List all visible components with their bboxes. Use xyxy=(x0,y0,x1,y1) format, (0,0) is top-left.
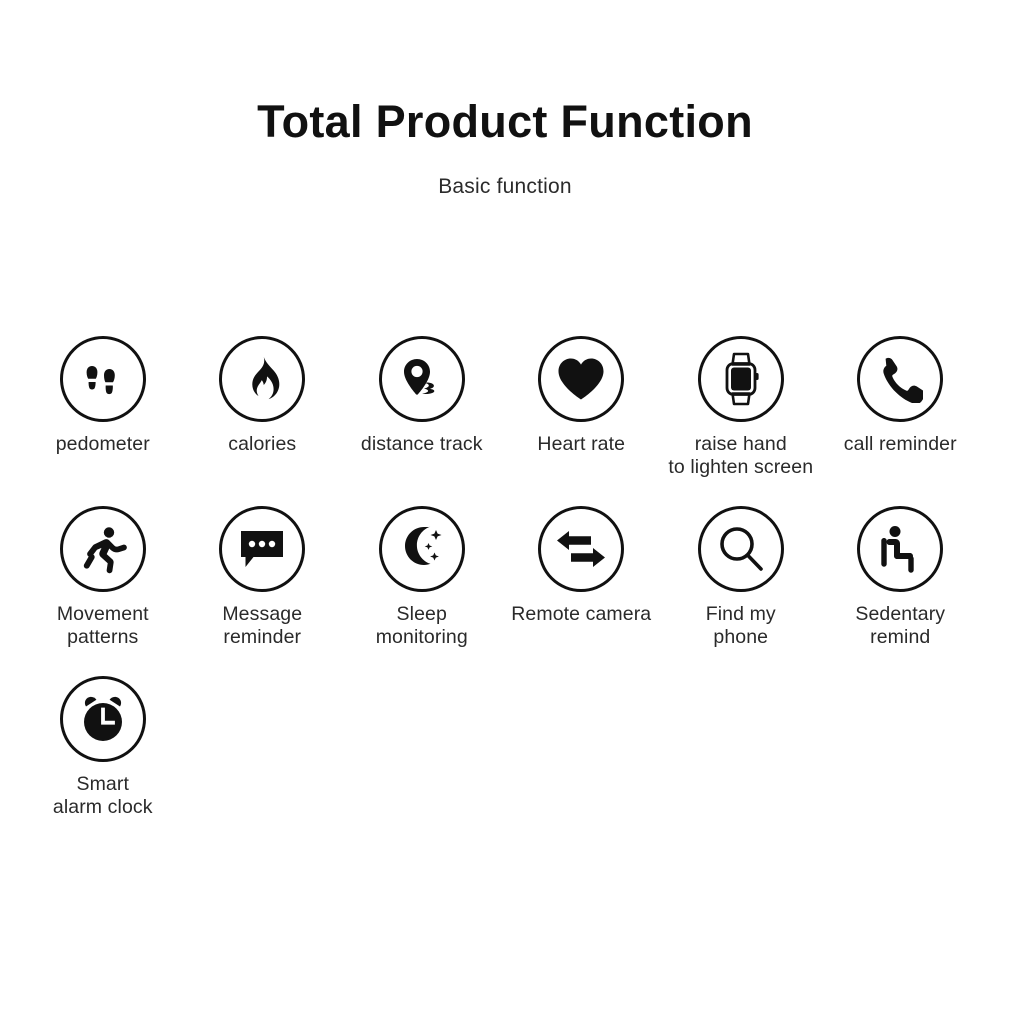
seated-person-icon xyxy=(876,524,924,574)
feature-icon-badge xyxy=(379,506,465,592)
feature-label: Sedentary remind xyxy=(855,603,945,649)
feature-label: pedometer xyxy=(56,433,150,456)
flame-icon xyxy=(239,355,285,403)
feature-label: Find my phone xyxy=(706,603,776,649)
feature-label: Heart rate xyxy=(537,433,625,456)
feature-icon-badge xyxy=(219,506,305,592)
smartwatch-icon xyxy=(718,352,764,406)
poster-root: Total Product Function Basic function pe… xyxy=(0,0,1010,1010)
running-person-icon xyxy=(78,524,128,574)
phone-handset-icon xyxy=(877,355,923,403)
feature-icon-badge xyxy=(857,506,943,592)
footprints-icon xyxy=(78,354,128,404)
feature-item-calories[interactable]: calories xyxy=(183,336,343,479)
feature-icon-badge xyxy=(60,336,146,422)
feature-icon-badge xyxy=(379,336,465,422)
alarm-clock-icon xyxy=(77,694,129,744)
feature-label: calories xyxy=(228,433,296,456)
feature-label: Message reminder xyxy=(222,603,302,649)
feature-item-message-reminder[interactable]: Message reminder xyxy=(183,506,343,649)
feature-item-raise-hand[interactable]: raise hand to lighten screen xyxy=(661,336,821,479)
feature-label: distance track xyxy=(361,433,483,456)
feature-item-find-my-phone[interactable]: Find my phone xyxy=(661,506,821,649)
feature-item-heart-rate[interactable]: Heart rate xyxy=(502,336,662,479)
feature-item-call-reminder[interactable]: call reminder xyxy=(821,336,981,479)
feature-item-pedometer[interactable]: pedometer xyxy=(23,336,183,479)
chat-bubble-icon xyxy=(237,527,287,571)
feature-item-sleep-monitoring[interactable]: Sleep monitoring xyxy=(342,506,502,649)
double-arrow-icon xyxy=(555,528,607,570)
feature-label: call reminder xyxy=(844,433,957,456)
feature-icon-badge xyxy=(698,506,784,592)
magnifier-icon xyxy=(717,525,765,573)
feature-item-remote-camera[interactable]: Remote camera xyxy=(502,506,662,649)
heart-icon xyxy=(556,356,606,402)
feature-icon-badge xyxy=(538,336,624,422)
feature-label: Movement patterns xyxy=(57,603,149,649)
header: Total Product Function Basic function xyxy=(0,98,1010,199)
feature-grid: pedometer calories xyxy=(23,336,987,846)
feature-item-movement-patterns[interactable]: Movement patterns xyxy=(23,506,183,649)
feature-item-sedentary-remind[interactable]: Sedentary remind xyxy=(821,506,981,649)
feature-label: raise hand to lighten screen xyxy=(668,433,813,479)
feature-label: Sleep monitoring xyxy=(376,603,468,649)
feature-item-distance-track[interactable]: distance track xyxy=(342,336,502,479)
feature-label: Remote camera xyxy=(511,603,651,626)
feature-icon-badge xyxy=(219,336,305,422)
feature-icon-badge xyxy=(698,336,784,422)
page-title: Total Product Function xyxy=(0,98,1010,145)
feature-icon-badge xyxy=(60,676,146,762)
moon-stars-icon xyxy=(397,524,447,574)
feature-label: Smart alarm clock xyxy=(53,773,153,819)
feature-item-smart-alarm-clock[interactable]: Smart alarm clock xyxy=(23,676,183,819)
map-pin-icon xyxy=(397,354,447,404)
feature-icon-badge xyxy=(538,506,624,592)
feature-icon-badge xyxy=(60,506,146,592)
page-subtitle: Basic function xyxy=(0,145,1010,199)
feature-icon-badge xyxy=(857,336,943,422)
